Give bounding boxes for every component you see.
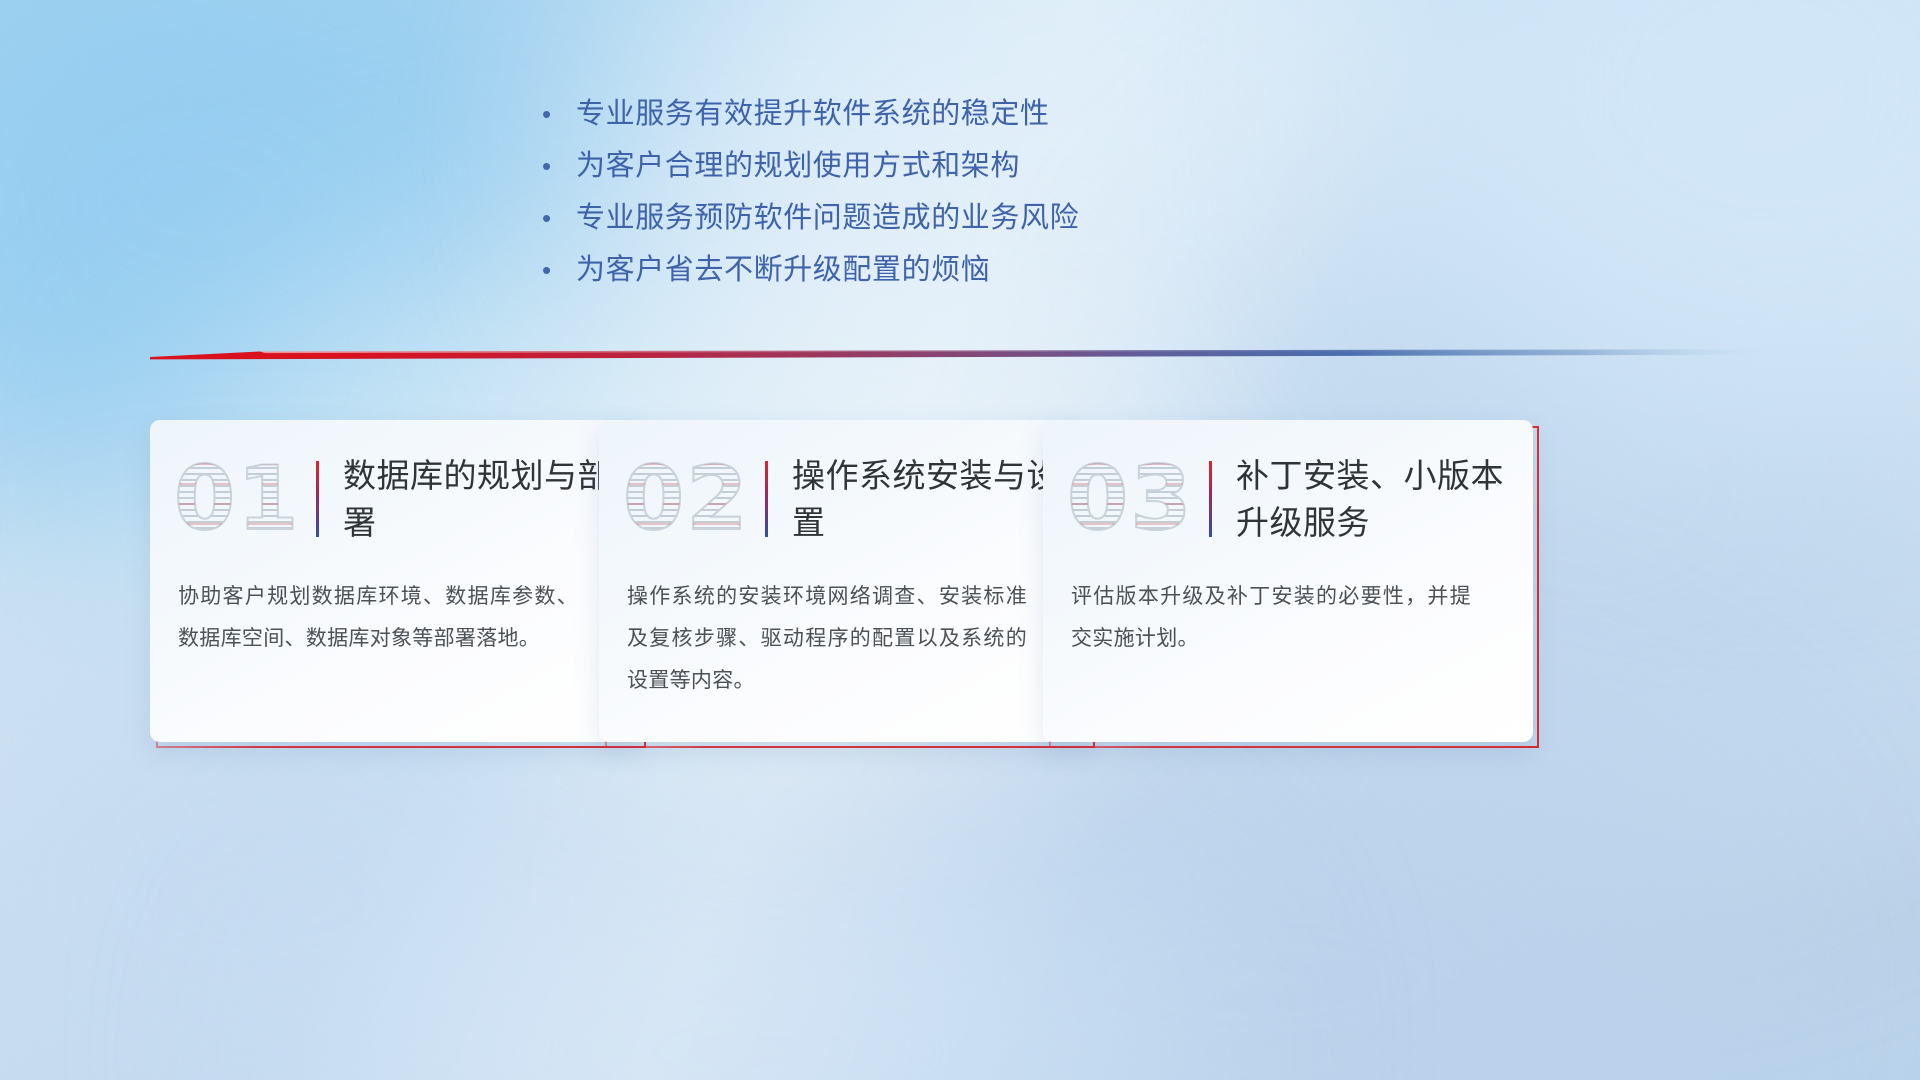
card-number-tint: 03 [1067, 443, 1205, 555]
card-number-watermark: 01 01 [174, 443, 312, 555]
bullet-text: 为客户省去不断升级配置的烦恼 [576, 244, 990, 296]
service-card[interactable]: 03 03 补丁安装、小版本升级服务 评估版本升级及补丁安装的必要性，并提交实施… [1043, 420, 1533, 742]
service-card[interactable]: 01 01 数据库的规划与部署 协助客户规划数据库环境、数据库参数、数据库空间、… [150, 420, 640, 742]
card-header: 01 01 数据库的规划与部署 [150, 438, 640, 560]
bullet-text: 专业服务有效提升软件系统的稳定性 [576, 88, 1050, 140]
list-item: • 为客户合理的规划使用方式和架构 [536, 140, 1296, 192]
bullet-marker-icon: • [536, 244, 576, 296]
card-body-text: 操作系统的安装环境网络调查、安装标准及复核步骤、驱动程序的配置以及系统的设置等内… [627, 576, 1027, 702]
card-title-rule [316, 461, 319, 537]
list-item: • 专业服务预防软件问题造成的业务风险 [536, 192, 1296, 244]
service-card[interactable]: 02 02 操作系统安装与设置 操作系统的安装环境网络调查、安装标准及复核步骤、… [599, 420, 1089, 742]
service-card-row: 01 01 数据库的规划与部署 协助客户规划数据库环境、数据库参数、数据库空间、… [0, 420, 1920, 760]
card-surface: 01 01 数据库的规划与部署 协助客户规划数据库环境、数据库参数、数据库空间、… [150, 420, 640, 742]
card-title-rule [765, 461, 768, 537]
card-number-watermark: 03 03 [1067, 443, 1205, 555]
list-item: • 专业服务有效提升软件系统的稳定性 [536, 88, 1296, 140]
benefits-bullet-list: • 专业服务有效提升软件系统的稳定性 • 为客户合理的规划使用方式和架构 • 专… [536, 88, 1296, 296]
card-title-rule [1209, 461, 1212, 537]
card-title: 数据库的规划与部署 [343, 452, 640, 546]
card-surface: 03 03 补丁安装、小版本升级服务 评估版本升级及补丁安装的必要性，并提交实施… [1043, 420, 1533, 742]
card-number-tint: 01 [174, 443, 312, 555]
bullet-marker-icon: • [536, 192, 576, 244]
card-number-watermark: 02 02 [623, 443, 761, 555]
bullet-marker-icon: • [536, 140, 576, 192]
card-body-text: 评估版本升级及补丁安装的必要性，并提交实施计划。 [1071, 576, 1471, 660]
card-title: 补丁安装、小版本升级服务 [1236, 452, 1533, 546]
list-item: • 为客户省去不断升级配置的烦恼 [536, 244, 1296, 296]
card-header: 02 02 操作系统安装与设置 [599, 438, 1089, 560]
bullet-text: 专业服务预防软件问题造成的业务风险 [576, 192, 1079, 244]
card-surface: 02 02 操作系统安装与设置 操作系统的安装环境网络调查、安装标准及复核步骤、… [599, 420, 1089, 742]
bullet-marker-icon: • [536, 88, 576, 140]
bullet-text: 为客户合理的规划使用方式和架构 [576, 140, 1020, 192]
card-body-text: 协助客户规划数据库环境、数据库参数、数据库空间、数据库对象等部署落地。 [178, 576, 578, 660]
card-number-tint: 02 [623, 443, 761, 555]
divider-wedge-icon [150, 344, 1770, 364]
section-divider [150, 344, 1770, 364]
card-header: 03 03 补丁安装、小版本升级服务 [1043, 438, 1533, 560]
